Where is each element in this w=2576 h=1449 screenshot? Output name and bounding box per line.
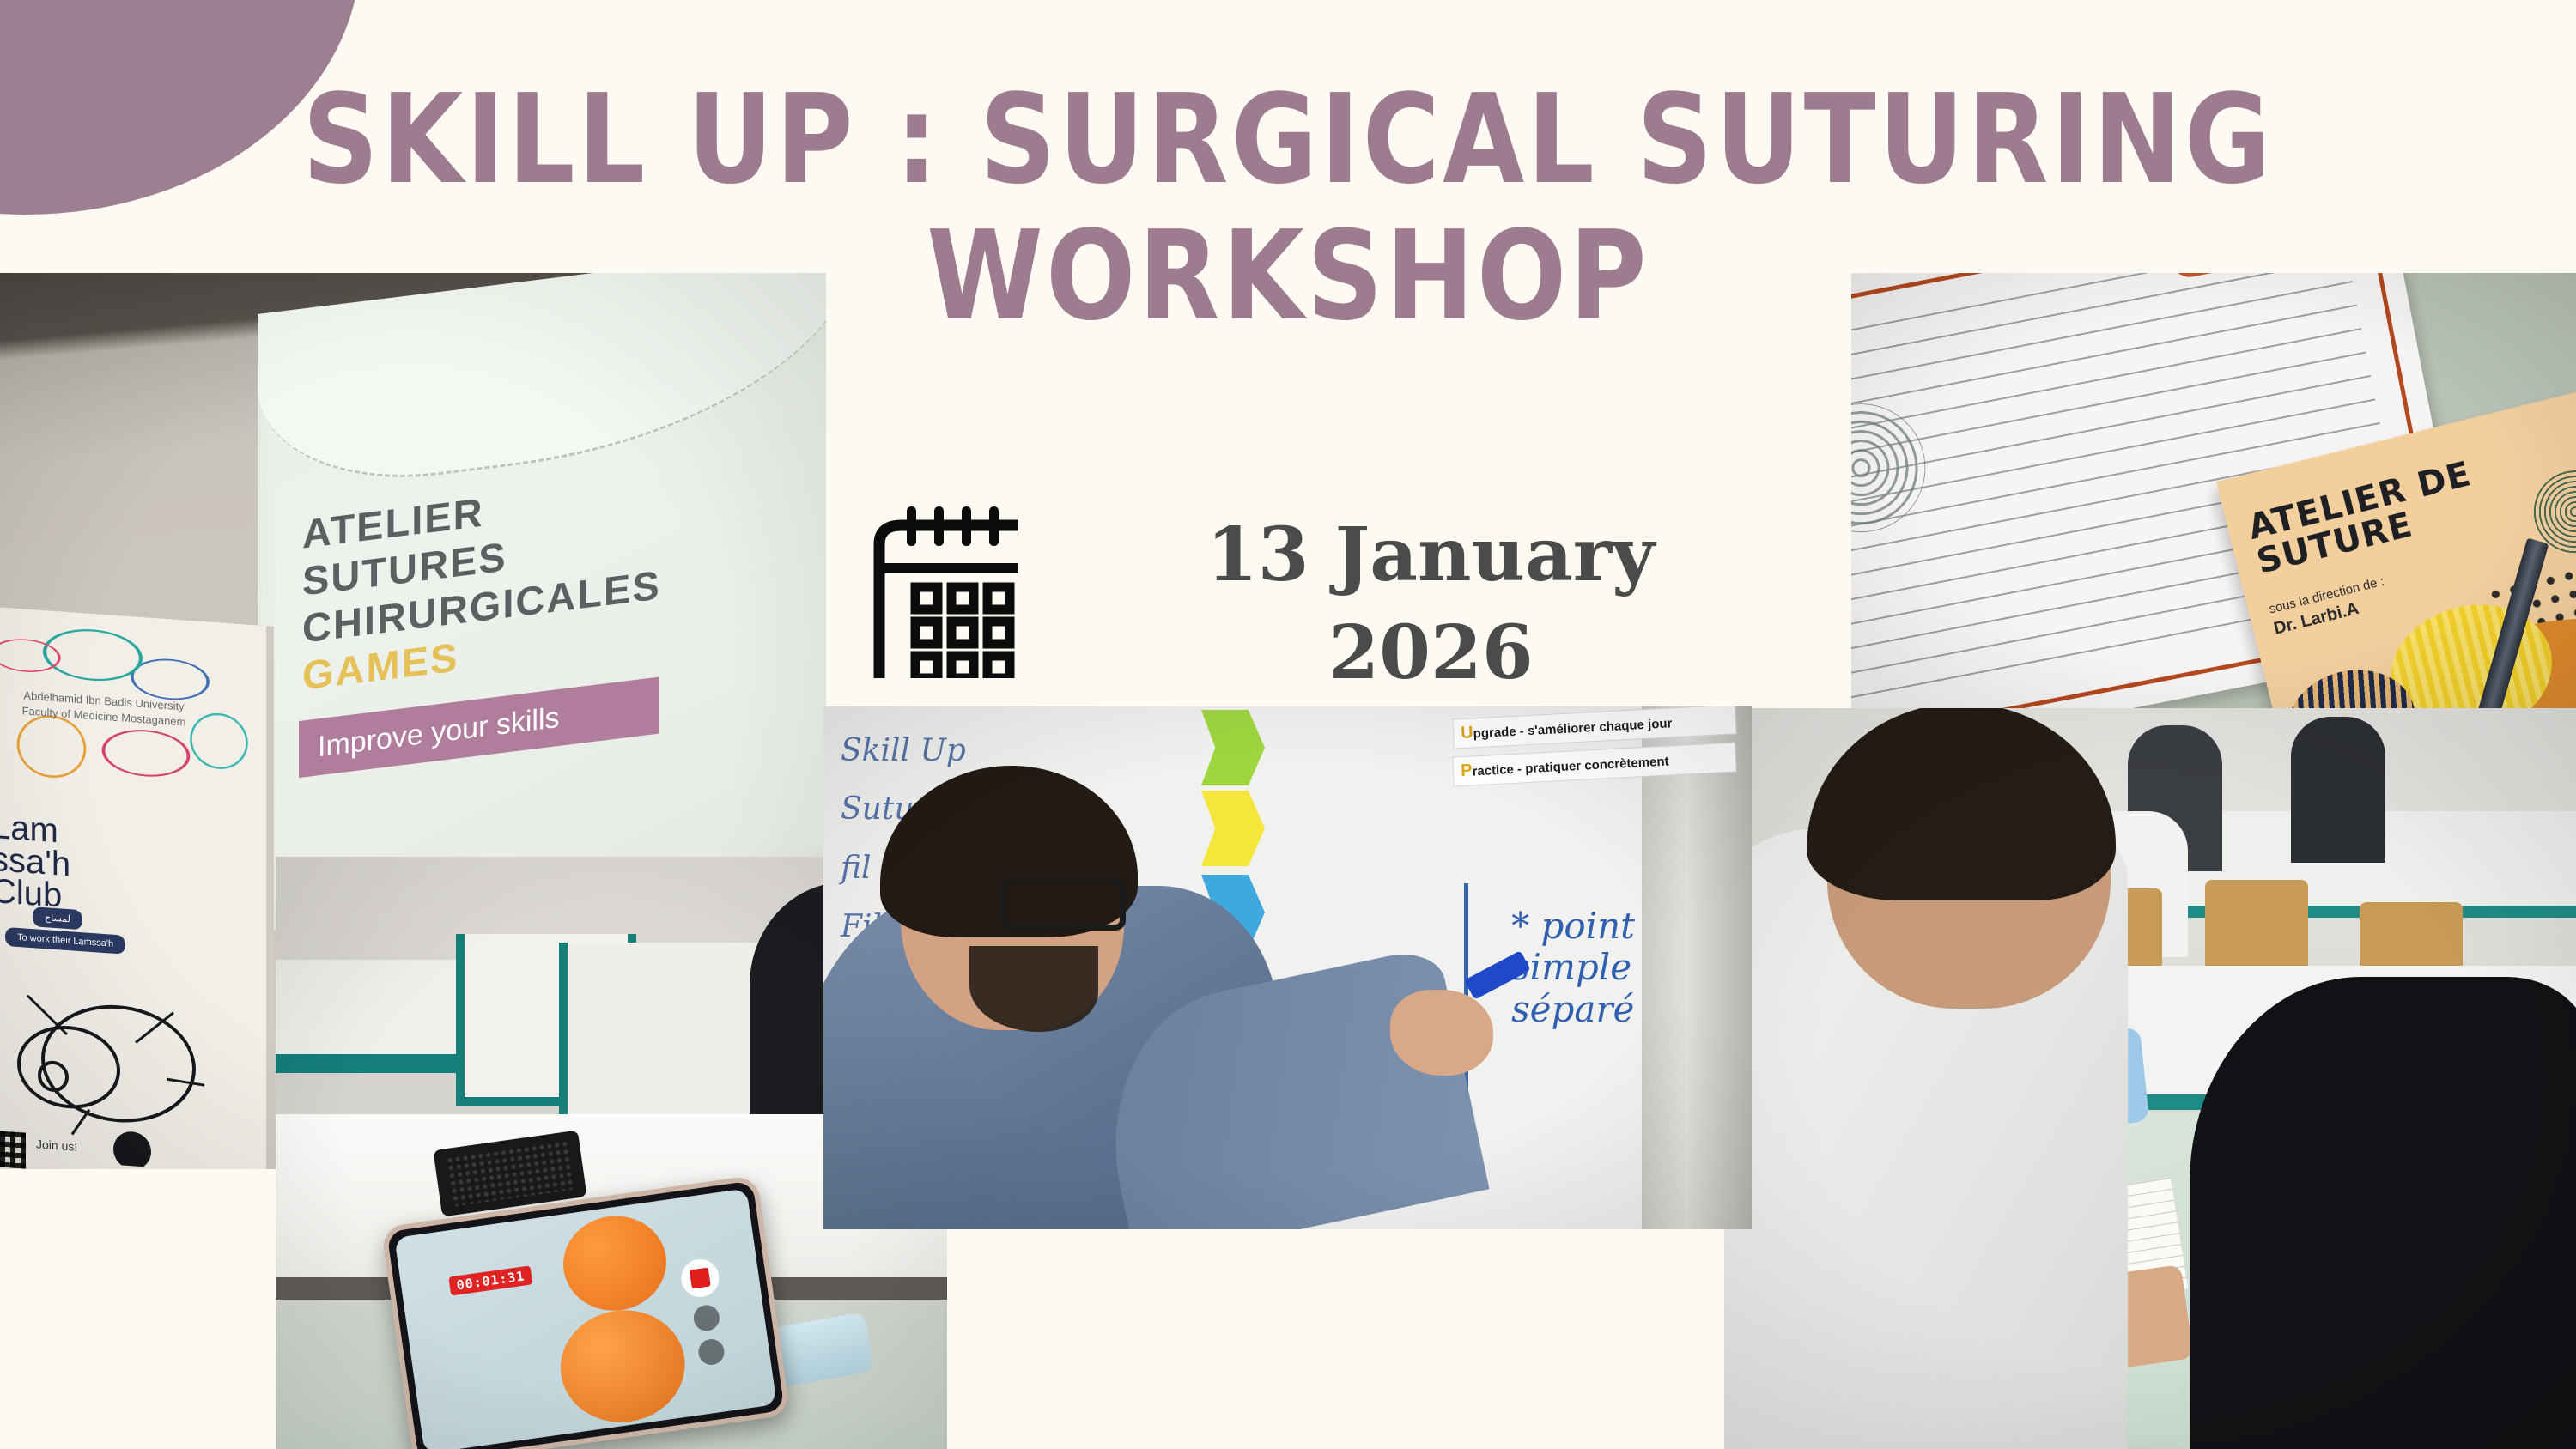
slide-heading: ATELIER SUTURES CHIRURGICALES GAMES [302,467,661,700]
orange-fruit [557,1210,672,1318]
phone-screen: 00:01:31 [394,1188,776,1449]
whiteboard-demo-photo: Skill Up Suture Chir fil : Fil très fin … [823,706,1752,1229]
poster-text: ractice - pratiquer concrètement [1472,754,1669,779]
banner-join-us-text: Join us! [36,1137,77,1153]
event-date-text: 13 January 2026 [1130,506,1731,703]
banner-club-name: Lam ssa'h Club [0,811,70,913]
suture-practice-photo [1724,708,2576,1449]
instructor-hand [1390,990,1493,1076]
poster-practice: Practice - pratiquer concrètement [1452,742,1736,786]
title-line-2: Workshop [269,212,2307,343]
main-note-line-1: * point [1511,906,1635,947]
recording-timer: 00:01:31 [448,1265,532,1295]
poster-upgrade: Upgrade - s'améliorer chaque jour [1452,706,1736,749]
date-line-1: 13 January [1130,506,1731,604]
background-person [2291,717,2385,863]
projection-screen: ATELIER SUTURES CHIRURGICALES GAMES Impr… [258,273,826,932]
poster-text: pgrade - s'améliorer chaque jour [1473,716,1673,741]
calendar-icon [867,506,1018,678]
main-note-line-3: séparé [1511,989,1635,1030]
date-line-2: 2026 [1130,604,1731,702]
title-line-1: Skill Up : Surgical Suturing [269,76,2307,206]
banner-pill-2: To work their Lamssa'h [5,927,125,955]
poster-title: Skill Up : Surgical Suturing Workshop [326,76,2250,318]
record-button[interactable] [678,1257,721,1300]
banner-pill-1: لمساح [33,906,82,930]
camera-option-button[interactable] [692,1303,721,1332]
event-date-block: 13 January 2026 [867,506,1731,703]
orange-fruit [553,1302,692,1430]
whiteboard-main-note: * point simple séparé [1511,906,1635,1030]
microphone-grill [447,1140,574,1206]
student-in-black [2190,977,2576,1449]
lab-desk [559,943,774,1123]
eyeglasses [1000,877,1126,931]
camera-option-button[interactable] [696,1337,726,1367]
slide-tagline: Improve your skills [318,700,560,764]
calendar-icon-svg [867,506,1018,678]
poster-canvas: ATELIER SUTURES CHIRURGICALES GAMES Impr… [0,0,2576,1449]
main-note-line-2: simple [1511,947,1635,988]
wall-posters: Upgrade - s'améliorer chaque jour Practi… [1453,712,1736,836]
record-square-icon [690,1268,711,1289]
club-rollup-banner: Abdelhamid Ibn Badis University Faculty … [0,606,274,1169]
banner-qr-code [0,1131,26,1169]
